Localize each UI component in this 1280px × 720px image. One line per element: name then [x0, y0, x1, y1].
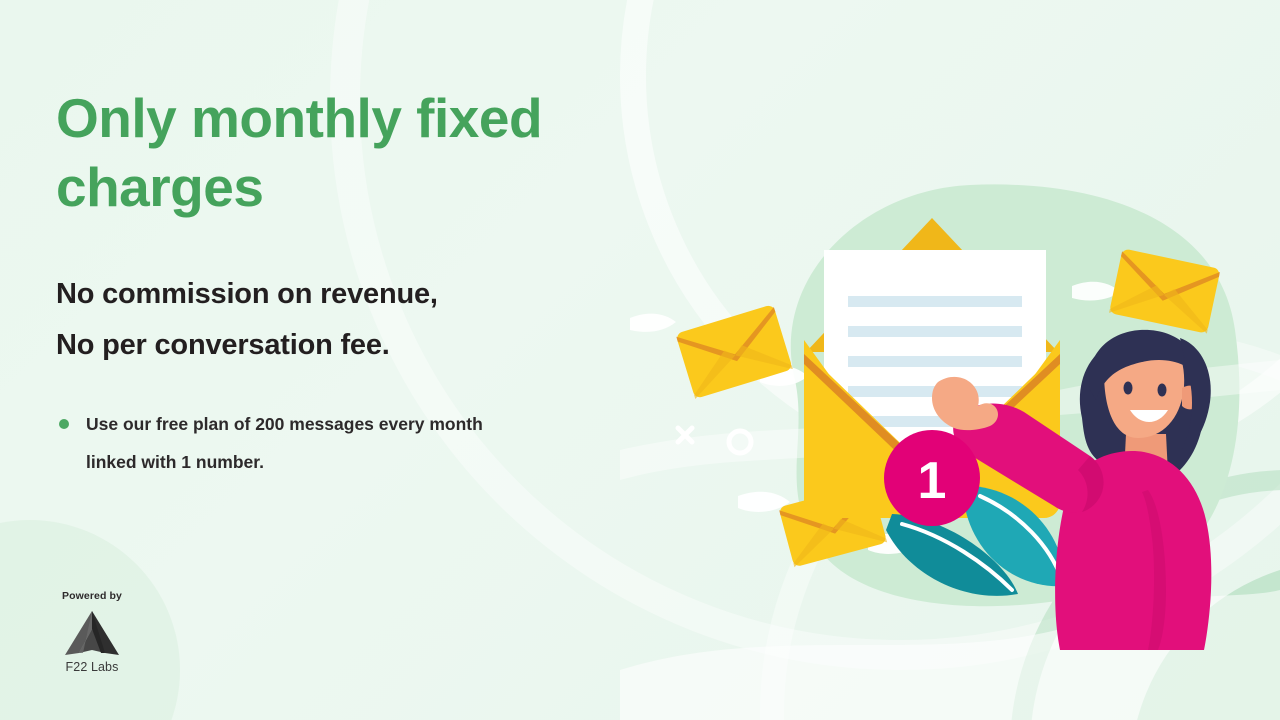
- subheading-line-2: No per conversation fee.: [56, 320, 616, 371]
- brand-name: F22 Labs: [42, 660, 142, 674]
- list-item-label: Use our free plan of 200 messages every …: [86, 414, 483, 473]
- hero-illustration: 1: [620, 150, 1280, 720]
- f22-labs-delta-wing-logo-icon: [61, 609, 123, 657]
- powered-by-label: Powered by: [42, 590, 142, 602]
- notification-badge: 1: [884, 430, 980, 526]
- bullet-dot-icon: [59, 419, 69, 429]
- page-title: Only monthly fixed charges: [56, 84, 616, 223]
- list-item: Use our free plan of 200 messages every …: [56, 405, 516, 482]
- slide-canvas: Only monthly fixed charges No commission…: [0, 0, 1280, 720]
- text-content: Only monthly fixed charges No commission…: [56, 84, 616, 482]
- subheading: No commission on revenue, No per convers…: [56, 223, 616, 371]
- subheading-line-1: No commission on revenue,: [56, 269, 616, 320]
- powered-by-block: Powered by F22 Labs: [42, 590, 142, 674]
- bullet-list: Use our free plan of 200 messages every …: [56, 371, 616, 482]
- badge-count: 1: [918, 452, 947, 510]
- flying-envelope-left-icon: [630, 304, 808, 399]
